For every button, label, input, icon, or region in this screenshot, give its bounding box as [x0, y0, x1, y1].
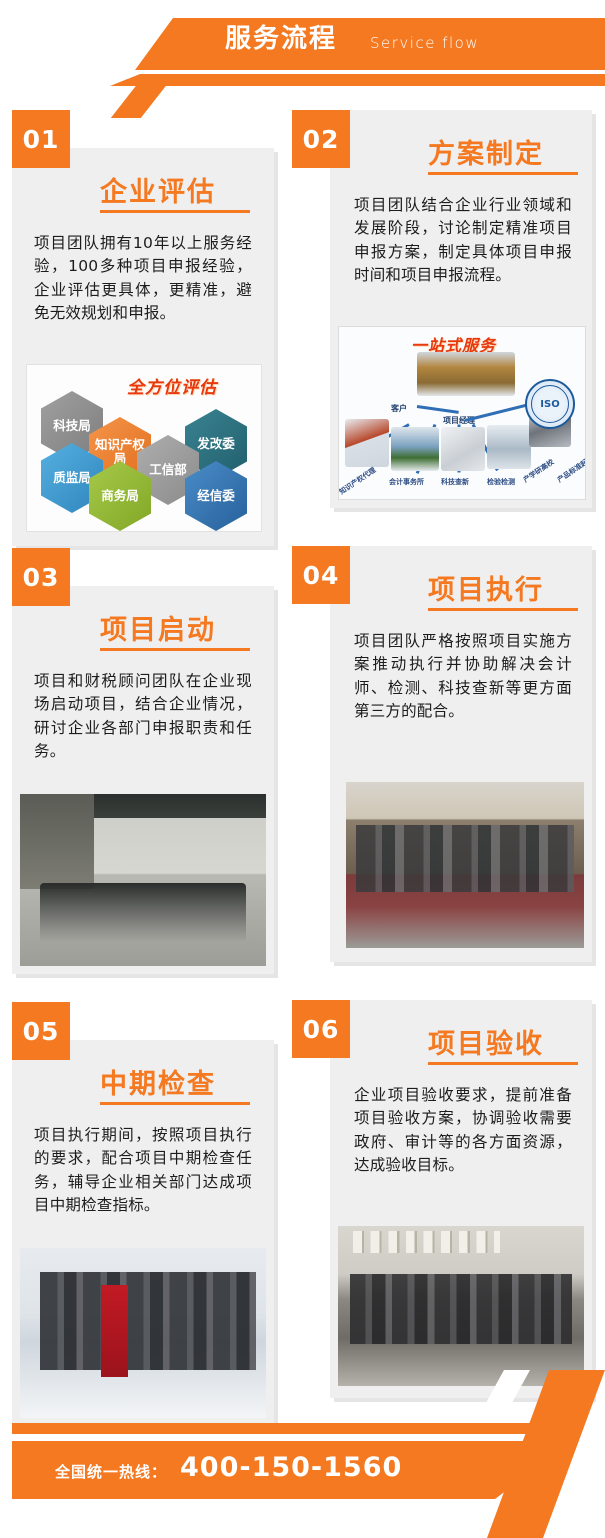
step-photo-06 [338, 1226, 584, 1386]
step-body-06: 企业项目验收要求，提前准备项目验收方案，协调验收需要政府、审计等的各方面资源，达… [354, 1084, 572, 1177]
oss-photo-search [441, 427, 485, 471]
step-photo-05 [20, 1248, 266, 1418]
hotline-number[interactable]: 400-150-1560 [180, 1452, 402, 1483]
step-badge-02: 02 [292, 110, 350, 168]
step-title-rule-01 [100, 210, 250, 213]
step-title-rule-03 [100, 648, 250, 651]
step-title-rule-06 [428, 1062, 578, 1065]
step-title-rule-05 [100, 1102, 250, 1105]
oss-arrow-1 [417, 405, 459, 414]
step-title-01: 企业评估 [100, 170, 216, 209]
header-stripe-primary [110, 74, 605, 86]
step-title-05: 中期检查 [100, 1062, 216, 1101]
step-card-04[interactable]: 04 项目执行 项目团队严格按照项目实施方案推动执行并协助解决会计师、检测、科技… [330, 546, 592, 962]
oss-photo-accounting [391, 427, 439, 471]
oss-label-standard: 产品标准起草 [555, 453, 586, 485]
oss-center-photo [417, 352, 515, 396]
step-title-04: 项目执行 [428, 568, 544, 607]
hexagon-chart-title: 全方位评估 [127, 373, 217, 398]
step-title-06: 项目验收 [428, 1022, 544, 1061]
step-photo-04 [346, 782, 584, 948]
oss-label-search: 科技查新 [441, 477, 469, 487]
step-body-04: 项目团队严格按照项目实施方案推动执行并协助解决会计师、检测、科技查新等更方面第三… [354, 630, 572, 723]
step-badge-03: 03 [12, 548, 70, 606]
step-card-02[interactable]: 02 方案制定 项目团队结合企业行业领域和发展阶段，讨论制定精准项目申报方案，制… [330, 110, 592, 508]
oss-node-customer: 客户 [391, 403, 407, 414]
hexagon-chart-01: 全方位评估 科技局 知识产权局 发改委 质监局 工信部 商务局 经信委 [26, 364, 262, 532]
oss-label-ip: 知识产权代理 [338, 465, 378, 497]
step-card-06[interactable]: 06 项目验收 企业项目验收要求，提前准备项目验收方案，协调验收需要政府、审计等… [330, 1000, 592, 1398]
step-badge-06: 06 [292, 1000, 350, 1058]
step-card-01[interactable]: 01 企业评估 项目团队拥有10年以上服务经验，100多种项目申报经验，企业评估… [12, 148, 274, 546]
iso-seal-icon: ISO [525, 379, 575, 429]
page-subtitle: Service flow [370, 34, 479, 52]
step-card-03[interactable]: 03 项目启动 项目和财税顾问团队在企业现场启动项目，结合企业情况，研讨企业各部… [12, 586, 274, 974]
hotline-label: 全国统一热线： [55, 1461, 167, 1482]
page-header: 服务流程 Service flow [0, 0, 605, 112]
step-title-rule-04 [428, 608, 578, 611]
step-photo-03 [20, 794, 266, 966]
page-title: 服务流程 [225, 26, 337, 52]
step-title-02: 方案制定 [428, 132, 544, 171]
step-badge-01: 01 [12, 110, 70, 168]
one-stop-service-diagram: 一站式服务 客户 项目经理 ISO 知识产权代理 会计事务所 科技查新 检验检测… [338, 326, 586, 500]
step-body-05: 项目执行期间，按照项目执行的要求，配合项目中期检查任务，辅导企业相关部门达成项目… [34, 1124, 252, 1217]
step-title-rule-02 [428, 172, 578, 175]
header-stripe-diagonal [111, 74, 175, 118]
step-card-05[interactable]: 05 中期检查 项目执行期间，按照项目执行的要求，配合项目中期检查任务，辅导企业… [12, 1040, 274, 1430]
oss-label-testing: 检验检测 [487, 477, 515, 487]
step-body-02: 项目团队结合企业行业领域和发展阶段，讨论制定精准项目申报方案，制定具体项目申报时… [354, 194, 572, 287]
step-badge-04: 04 [292, 546, 350, 604]
step-body-01: 项目团队拥有10年以上服务经验，100多种项目申报经验，企业评估更具体，更精准，… [34, 232, 252, 325]
oss-photo-ip [345, 419, 389, 467]
step-badge-05: 05 [12, 1002, 70, 1060]
footer-stripe [12, 1423, 572, 1434]
step-title-03: 项目启动 [100, 608, 216, 647]
oss-label-accounting: 会计事务所 [389, 477, 424, 487]
step-body-03: 项目和财税顾问团队在企业现场启动项目，结合企业情况，研讨企业各部门申报职责和任务… [34, 670, 252, 763]
oss-photo-testing [487, 425, 531, 469]
